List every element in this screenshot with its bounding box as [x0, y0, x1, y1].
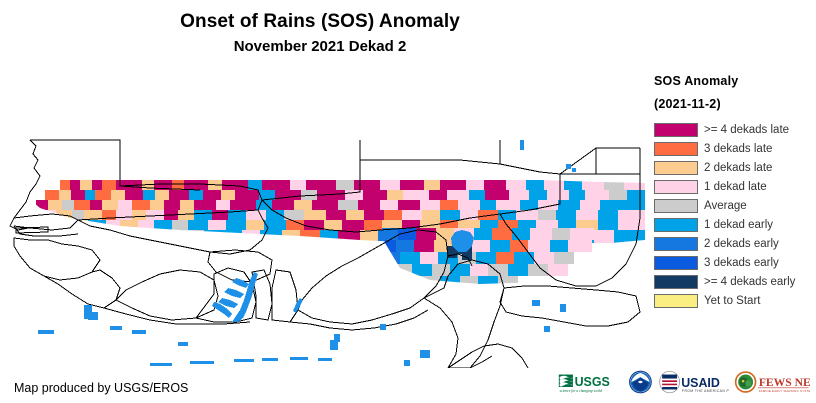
page-title: Onset of Rains (SOS) Anomaly — [0, 10, 640, 34]
usaid-tagline: FROM THE AMERICAN PEOPLE — [682, 389, 729, 393]
legend-item-label: 1 dekad early — [704, 218, 773, 232]
legend-date: (2021-11-2) — [654, 97, 816, 111]
legend-item[interactable]: 3 dekads early — [654, 253, 816, 272]
legend-title: SOS Anomaly — [654, 74, 816, 88]
usaid-wordmark: USAID — [681, 376, 720, 390]
usgs-logo: USGS science for a changing world — [558, 365, 623, 399]
legend-item[interactable]: >= 4 dekads early — [654, 272, 816, 291]
legend-item[interactable]: Yet to Start — [654, 291, 816, 310]
legend-swatch — [654, 199, 698, 213]
legend-item[interactable]: >= 4 dekads late — [654, 120, 816, 139]
legend-item-label: 1 dekad late — [704, 180, 767, 194]
legend-swatch — [654, 161, 698, 175]
legend-item-label: 2 dekads late — [704, 161, 772, 175]
legend-panel: SOS Anomaly (2021-11-2) >= 4 dekads late… — [650, 70, 816, 310]
legend-swatch — [654, 142, 698, 156]
usaid-logo: USAID FROM THE AMERICAN PEOPLE — [658, 365, 729, 399]
page-subtitle: November 2021 Dekad 2 — [0, 37, 640, 57]
usgs-wave-mark — [559, 375, 573, 387]
legend-swatch — [654, 180, 698, 194]
legend-item[interactable]: 2 dekads early — [654, 234, 816, 253]
legend-swatch — [654, 275, 698, 289]
noaa-logo — [628, 365, 653, 399]
legend-item-label: 3 dekads early — [704, 256, 779, 270]
map-page: Onset of Rains (SOS) Anomaly November 20… — [0, 0, 816, 403]
map-canvas[interactable] — [0, 68, 645, 368]
legend-items-list: >= 4 dekads late 3 dekads late 2 dekads … — [650, 120, 816, 310]
legend-swatch — [654, 218, 698, 232]
legend-swatch — [654, 237, 698, 251]
legend-item-label: >= 4 dekads early — [704, 275, 795, 289]
legend-item[interactable]: 1 dekad late — [654, 177, 816, 196]
legend-item[interactable]: 2 dekads late — [654, 158, 816, 177]
map-credit: Map produced by USGS/EROS — [14, 381, 188, 395]
map-svg — [0, 68, 645, 368]
legend-swatch — [654, 294, 698, 308]
legend-item-label: Yet to Start — [704, 294, 760, 308]
legend-item-label: Average — [704, 199, 747, 213]
usgs-wordmark: USGS — [575, 375, 610, 389]
legend-swatch — [654, 123, 698, 137]
usgs-tagline: science for a changing world — [560, 389, 602, 393]
legend-item-label: 2 dekads early — [704, 237, 779, 251]
legend-item[interactable]: Average — [654, 196, 816, 215]
title-block: Onset of Rains (SOS) Anomaly November 20… — [0, 0, 640, 57]
legend-item-label: >= 4 dekads late — [704, 123, 789, 137]
legend-swatch — [654, 256, 698, 270]
legend-item-label: 3 dekads late — [704, 142, 772, 156]
fewsnet-wordmark: FEWS NET — [759, 376, 810, 389]
agency-logos: USGS science for a changing world USAID … — [558, 364, 810, 400]
fewsnet-tagline: FAMINE EARLY WARNING SYSTEMS NETWORK — [759, 389, 810, 393]
legend-item[interactable]: 3 dekads late — [654, 139, 816, 158]
legend-item[interactable]: 1 dekad early — [654, 215, 816, 234]
fewsnet-logo: FEWS NET FAMINE EARLY WARNING SYSTEMS NE… — [734, 365, 810, 399]
